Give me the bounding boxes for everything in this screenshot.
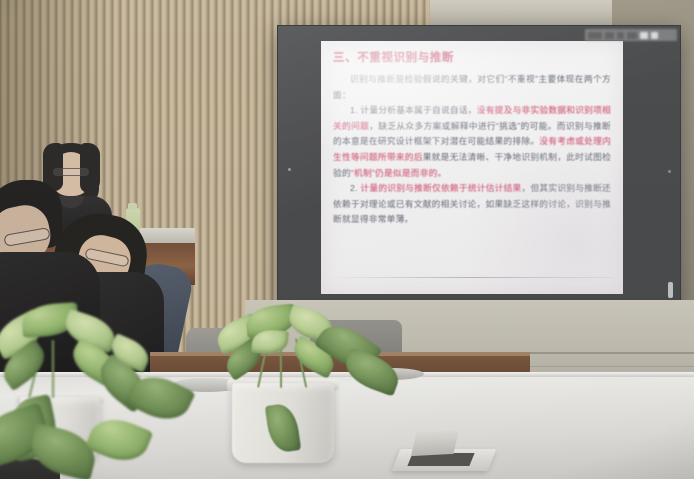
osd-toolbar[interactable] bbox=[585, 29, 677, 41]
osd-chip-icon[interactable] bbox=[617, 32, 624, 39]
table-cable-port-lid[interactable] bbox=[411, 430, 459, 456]
display-sensor-dot-right bbox=[668, 170, 671, 173]
display-power-led bbox=[668, 282, 673, 298]
run-text: 识别与推断是检验假说的关键，对它们“不重视”主要体现在两个方面： bbox=[333, 74, 611, 100]
run-highlight: 计量的识别与推断仅依赖于统计估计结果 bbox=[360, 183, 521, 193]
osd-chip-icon[interactable] bbox=[640, 32, 648, 39]
run-text: 2. bbox=[350, 183, 360, 193]
slide-paragraph-point-2: 2. 计量的识别与推断仅依赖于统计估计结果，但其实识别与推断还依赖于对理论或已有… bbox=[333, 181, 611, 228]
thermos-cap bbox=[128, 203, 137, 210]
wall-mounted-display[interactable]: 三、不重视识别与推断 识别与推断是检验假说的关键，对它们“不重视”主要体现在两个… bbox=[277, 25, 681, 315]
osd-chip-icon[interactable] bbox=[605, 32, 614, 39]
plant-stem bbox=[52, 340, 54, 398]
slide-title: 三、不重视识别与推断 bbox=[333, 49, 611, 65]
slide-surface: 三、不重视识别与推断 识别与推断是检验假说的关键，对它们“不重视”主要体现在两个… bbox=[321, 41, 623, 294]
osd-chip-icon[interactable] bbox=[651, 32, 658, 39]
slide-content: 三、不重视识别与推断 识别与推断是检验假说的关键，对它们“不重视”主要体现在两个… bbox=[321, 41, 623, 228]
osd-chip-icon[interactable] bbox=[627, 32, 637, 39]
run-text: 1. 计量分析基本属于自说自话， bbox=[350, 105, 477, 115]
glasses-icon bbox=[53, 168, 89, 176]
slide-footer-rule bbox=[331, 277, 613, 278]
slide-paragraph-lead: 识别与推断是检验假说的关键，对它们“不重视”主要体现在两个方面： bbox=[333, 72, 611, 103]
display-sensor-dot bbox=[288, 168, 291, 171]
presentation-room-photo: 三、不重视识别与推断 识别与推断是检验假说的关键，对它们“不重视”主要体现在两个… bbox=[0, 0, 694, 479]
run-highlight: “机制”仍是似是而非的。 bbox=[351, 168, 447, 178]
osd-chip-icon[interactable] bbox=[588, 32, 602, 39]
slide-paragraph-point-1: 1. 计量分析基本属于自说自话，没有提及与非实验数据和识别项相关的问题，缺乏从众… bbox=[333, 103, 611, 181]
